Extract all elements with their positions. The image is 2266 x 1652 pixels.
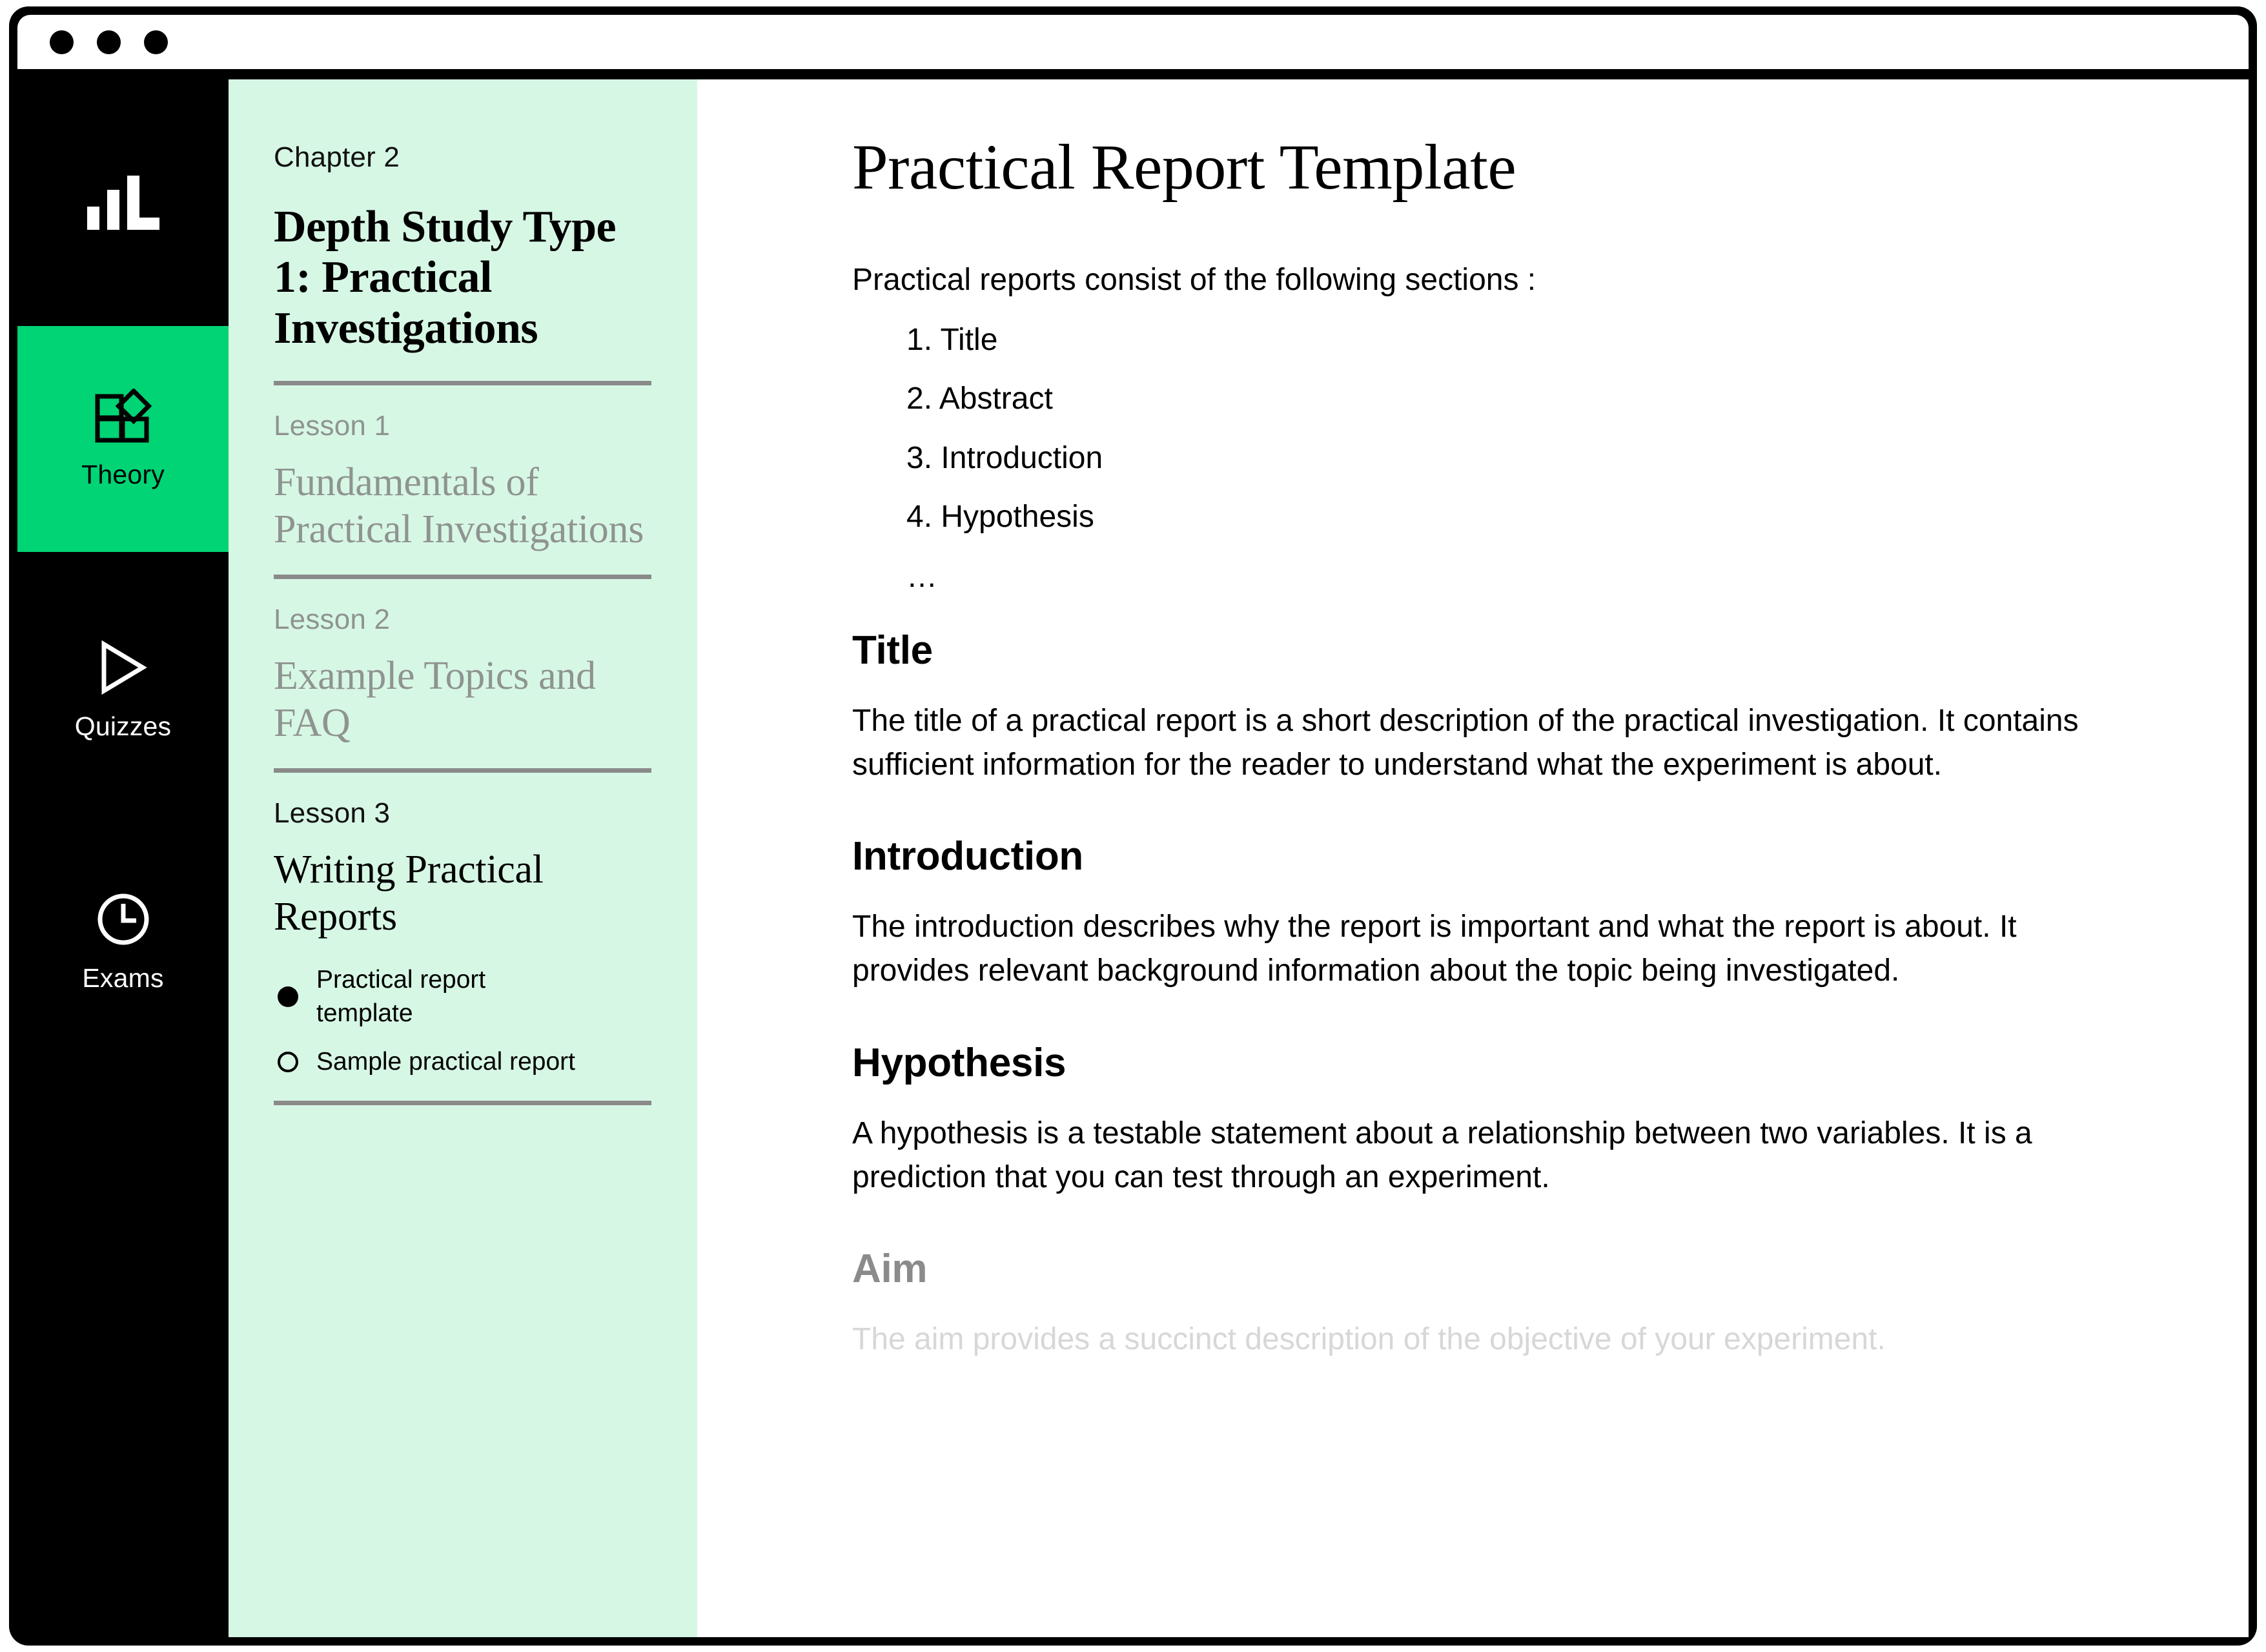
section-heading-hypothesis: Hypothesis [852,1040,2132,1086]
ellipsis-text: … [852,562,2132,593]
play-triangle-icon [99,640,148,695]
section-body-introduction: The introduction describes why the repor… [852,905,2132,993]
content-fade-overlay [697,1443,2249,1637]
sub-item-label: Practical report template [316,963,555,1030]
app-body: Theory Quizzes Exams Chapter 2 Depth Stu… [17,79,2249,1637]
divider [274,1101,651,1105]
section-body-aim: The aim provides a succinct description … [852,1318,2132,1361]
page-title: Practical Report Template [852,130,2132,204]
lesson-item-1[interactable]: Lesson 1 Fundamentals of Practical Inves… [274,385,658,579]
divider [274,575,651,579]
sidebar-item-label: Exams [82,963,163,994]
minimize-dot-icon[interactable] [97,30,121,54]
chapter-eyebrow: Chapter 2 [274,141,658,174]
sections-ordered-list: 1. Title 2. Abstract 3. Introduction 4. … [852,318,2132,538]
window-titlebar [17,15,2249,69]
lesson-eyebrow: Lesson 3 [274,797,658,830]
section-heading-title: Title [852,627,2132,673]
clock-icon [96,892,150,946]
sub-item-label: Sample practical report [316,1045,575,1078]
list-item[interactable]: Practical report template [274,963,658,1030]
sidebar-item-label: Theory [81,460,165,490]
grid-diamond-icon [95,389,152,443]
bar-chart-logo-icon [87,176,159,230]
section-heading-introduction: Introduction [852,833,2132,879]
chapter-title: Depth Study Type 1: Practical Investigat… [274,202,658,354]
close-dot-icon[interactable] [50,30,74,54]
lesson-name: Writing Practical Reports [274,846,658,940]
filled-bullet-icon [278,986,298,1007]
lesson-eyebrow: Lesson 1 [274,410,658,442]
sidebar-item-exams[interactable]: Exams [17,830,229,1055]
list-item: 1. Title [906,318,2132,362]
sidebar-item-theory[interactable]: Theory [17,326,229,552]
section-body-title: The title of a practical report is a sho… [852,699,2132,787]
intro-paragraph: Practical reports consist of the followi… [852,258,2132,301]
list-item: 2. Abstract [906,377,2132,420]
lesson-sub-list: Practical report template Sample practic… [274,963,658,1078]
list-item[interactable]: Sample practical report [274,1045,658,1078]
divider [274,768,651,773]
section-body-hypothesis: A hypothesis is a testable statement abo… [852,1112,2132,1199]
app-logo[interactable] [17,79,229,326]
section-heading-aim: Aim [852,1246,2132,1292]
hollow-bullet-icon [278,1052,298,1072]
document-content: Practical Report Template Practical repo… [697,79,2249,1637]
list-item: 4. Hypothesis [906,495,2132,538]
lesson-eyebrow: Lesson 2 [274,604,658,636]
sidebar-item-label: Quizzes [75,711,172,742]
primary-nav-rail: Theory Quizzes Exams [17,79,229,1637]
lesson-item-2[interactable]: Lesson 2 Example Topics and FAQ [274,579,658,773]
lesson-item-3[interactable]: Lesson 3 Writing Practical Reports Pract… [274,773,658,1105]
browser-window: Theory Quizzes Exams Chapter 2 Depth Stu… [9,6,2257,1646]
list-item: 3. Introduction [906,436,2132,480]
maximize-dot-icon[interactable] [144,30,168,54]
lesson-navigation-panel: Chapter 2 Depth Study Type 1: Practical … [229,79,697,1637]
divider [274,381,651,385]
lesson-name: Example Topics and FAQ [274,653,658,746]
traffic-light-buttons [50,15,168,69]
sidebar-item-quizzes[interactable]: Quizzes [17,578,229,804]
lesson-name: Fundamentals of Practical Investigations [274,459,658,553]
